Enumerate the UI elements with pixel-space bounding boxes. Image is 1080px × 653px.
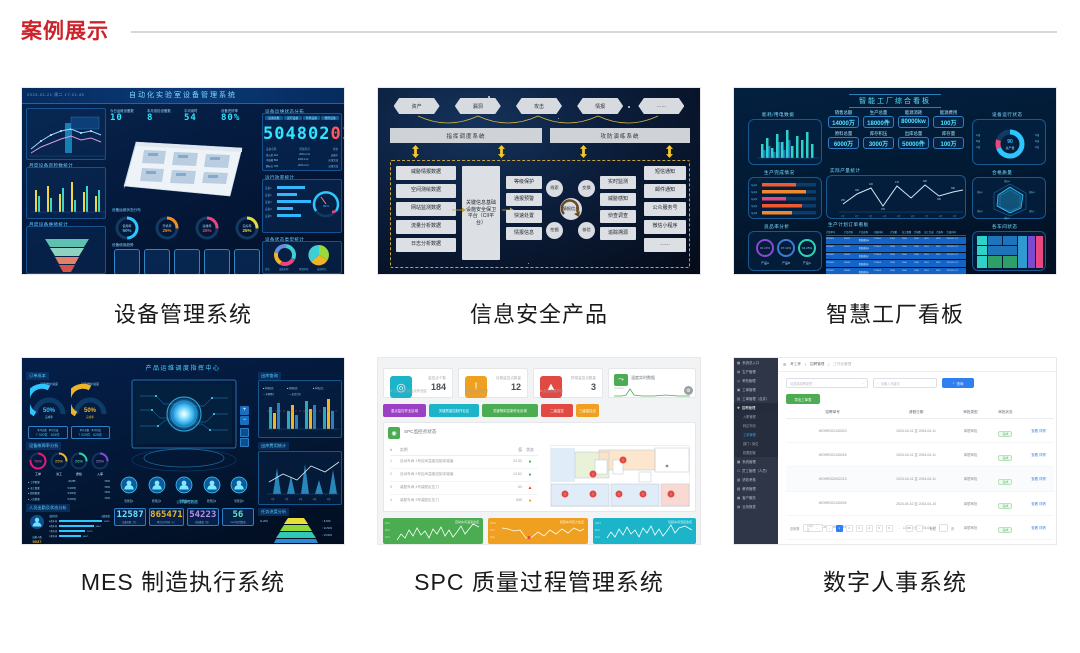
chip-threat-intel[interactable]: 威胁情报数据 xyxy=(396,166,456,180)
svg-text:50%: 50% xyxy=(42,408,55,414)
svg-text:390: 390 xyxy=(951,187,956,190)
export-button[interactable]: 导出工单表 xyxy=(786,394,820,404)
svg-text:指标C: 指标C xyxy=(1029,209,1035,213)
tag-key-monitor-area[interactable]: 重点监控作业区域 xyxy=(383,404,426,417)
zoom-out-button[interactable]: − xyxy=(240,416,249,425)
attendance-icon-wrap: 出勤人数 5037 xyxy=(28,514,46,544)
section-production: 生产完成情况 xyxy=(764,170,795,176)
chip-traffic[interactable]: 流量分析数据 xyxy=(396,220,456,234)
sidebar-item-report[interactable]: ▤业务报表 xyxy=(734,502,778,511)
left-data-sources[interactable]: 威胁情报数据 空间测绘数据 网站监测数据 流量分析数据 日志分析数据 xyxy=(396,166,456,252)
order-table: 计划单号产品代码产品名称 开始时间计划量加工数量 合格数加工完成合格率完成时间 … xyxy=(826,229,966,275)
case-caption: 设备管理系统 xyxy=(21,297,345,329)
svg-text:排名: 排名 xyxy=(265,267,270,271)
panel-countdown: 设备总数 运行设备 停机设备 维修设备 50 48 02 01 设备名称所属科室… xyxy=(262,113,342,171)
incubator-icon[interactable] xyxy=(144,249,170,275)
status-badge: 完成 xyxy=(998,503,1012,509)
breadcrumb[interactable]: ☰ 考工考/ 招聘管理/ 工作台管理 xyxy=(778,358,1056,372)
ring-usage: 使用率 50% xyxy=(114,215,140,241)
chip-cii-platform[interactable]: 关键信息基础设施安全保卫平台（CII平台） xyxy=(462,166,500,260)
svg-text:派工: 派工 xyxy=(56,472,62,476)
big-number-cell: 56 24小时告警数量 xyxy=(222,508,254,526)
chip-alert[interactable]: 通报预警 xyxy=(506,193,542,206)
bar-chart-outbound: ■ 本期出库■ 同期出库■ 本期占比 --- 本期累计--- 出库计划 xyxy=(259,381,343,439)
device-icon-cell[interactable]: 酶标仪 xyxy=(204,249,230,275)
case-item-smart-factory[interactable]: 智能工厂综合看板 能耗/用电数据 xyxy=(733,87,1057,329)
page-last[interactable]: 88 xyxy=(906,525,913,532)
table-header-row: # 实例 值 状态 xyxy=(390,448,538,456)
ring-gauges: 使用率 50% 开机率 25% xyxy=(114,215,260,246)
rotate-arrow-icon xyxy=(558,196,584,222)
svg-text:9月: 9月 xyxy=(953,214,956,218)
thumbnail-smart-factory[interactable]: 智能工厂综合看板 能耗/用电数据 xyxy=(733,87,1057,275)
sidebar-item-workorder[interactable]: ▣工单管理 xyxy=(734,385,778,394)
svg-text:车间4: 车间4 xyxy=(751,204,758,208)
svg-text:380: 380 xyxy=(855,189,860,192)
panel-cost-chart: 1月2月3月 4月5月 xyxy=(258,451,342,505)
kpi-card-monthly[interactable]: ! 月报监控点数量 12 ■ 点击查看异常 xyxy=(458,368,528,398)
device-icon-cell[interactable]: 离心机 xyxy=(174,249,200,275)
circle-mining[interactable]: 挖掘 xyxy=(546,222,563,239)
avatar-cell[interactable]: 管理员3 xyxy=(175,476,193,503)
page-1[interactable]: 1 xyxy=(836,525,843,532)
chip-more[interactable]: …… xyxy=(644,238,686,252)
svg-text:250: 250 xyxy=(841,199,846,202)
sidebar-item-service[interactable]: ▦客户服务 xyxy=(734,493,778,502)
gear-icon[interactable]: ⚙ xyxy=(684,386,693,395)
svg-text:--- 本期累计: --- 本期累计 xyxy=(263,392,275,396)
svg-text:6月: 6月 xyxy=(911,214,914,218)
table-row[interactable]: WOHR202100023 2024-04-11 至 2024-04-11 单据… xyxy=(786,419,1054,443)
thumbnail-mes[interactable]: 产品运维调度指挥中心 订单成本 设备维护进度 50% 完成率 设备维护进度 xyxy=(21,357,345,545)
svg-text:设备名称: 设备名称 xyxy=(279,267,289,271)
search-button[interactable]: ⌕查询 xyxy=(942,378,974,388)
arrow-up-down-icon xyxy=(580,145,587,158)
svg-text:指标E: 指标E xyxy=(977,209,983,213)
panel-pies: 排名设备名称所属科室运维时长 xyxy=(262,241,342,274)
right-notification-chips[interactable]: 短信通知 邮件通知 公众服务号 微信小程序 …… xyxy=(644,166,686,252)
sidebar-item-recruit[interactable]: ❉招聘管理 xyxy=(734,403,778,412)
kpi-strip: 今日运维设备数 10 本月巡检设备数 8 平均用时 54 设备完好率 80% xyxy=(110,108,258,130)
doc-icon: ▣ xyxy=(737,388,740,392)
case-caption: 数字人事系统 xyxy=(733,563,1057,597)
chip-level-protection[interactable]: 等级保护 xyxy=(506,176,542,189)
svg-text:25%: 25% xyxy=(162,228,171,233)
sidebar-item-production[interactable]: ▤生产管理 xyxy=(734,367,778,376)
table-row: CP0002X0002智能模块B T#000220001500 150060%8… xyxy=(826,245,966,252)
case-item-equipment-management[interactable]: 2023-02-21 周二 17:21:45 自动化实验室设备管理系统 xyxy=(21,87,345,329)
case-caption: SPC 质量过程管理系统 xyxy=(377,563,701,597)
case-caption: 信息安全产品 xyxy=(377,297,701,329)
chart-pressure[interactable]: 装配车间压力监控 100.060.020.0 xyxy=(488,518,588,544)
kpi-cell: 生产总量 18000件 xyxy=(863,110,894,128)
thumbnail-hr[interactable]: ▦系统总入口 ▤生产管理 ◷考勤管理 ▣工单管理 ▥工单管理（合并） ❉招聘管理… xyxy=(733,357,1057,545)
kpi-card-footer[interactable]: ■ 点击查看监控点作业区 xyxy=(390,388,427,393)
yield-rings: 96.23% 产品A 97.12% 产品B 94.25% 产品C xyxy=(749,232,823,272)
dashboard-topbar: 2023-02-21 周二 17:21:45 自动化实验室设备管理系统 xyxy=(22,88,344,104)
big-number-cell: 54223 在线数量（台） xyxy=(187,508,219,526)
row-action[interactable]: 查看 详情 xyxy=(1023,452,1054,457)
center-visual xyxy=(116,372,252,482)
sidebar-item-employee[interactable]: ☖员工管理（人员） xyxy=(734,466,778,475)
floorplan-map[interactable]: !!! !!!! xyxy=(550,445,690,507)
svg-text:480: 480 xyxy=(923,180,928,183)
chip-sms[interactable]: 短信通知 xyxy=(644,166,686,180)
docs-icon: ▥ xyxy=(737,397,740,401)
svg-text:97.12%: 97.12% xyxy=(781,246,792,250)
thumbnail-spc[interactable]: ◎ 监控点个数 184 ■ 点击查看监控点作业区 ! 月报监控点数量 12 ■ … xyxy=(377,357,701,545)
svg-text:↑ 21.50%: ↑ 21.50% xyxy=(322,527,333,530)
tag-level2-monitor[interactable]: 二级监控 xyxy=(541,404,573,417)
svg-text:20.0: 20.0 xyxy=(385,529,390,532)
svg-text:B线: B线 xyxy=(976,139,981,143)
gauge-maintenance-1: 设备维护进度 50% 完成率 xyxy=(30,380,68,426)
row-action[interactable]: 查看 详情 xyxy=(1023,476,1054,481)
sidebar-item-workorder-merged[interactable]: ▥工单管理（合并） xyxy=(734,394,778,403)
avatar[interactable] xyxy=(148,476,166,494)
chip-public-account[interactable]: 公众服务号 xyxy=(644,202,686,216)
page-3[interactable]: 3 xyxy=(856,525,863,532)
svg-text:↑ 15.30%: ↑ 15.30% xyxy=(322,534,333,537)
sidebar-item-attendance[interactable]: ◷考勤管理 xyxy=(734,376,778,385)
svg-text:质检: 质检 xyxy=(76,471,82,476)
arrow-right-icon xyxy=(452,206,466,214)
table-row[interactable]: 4 装配车间 3号装配区压力 655 ● xyxy=(390,495,538,507)
section-fault-analysis: 设备故障率分析 xyxy=(26,442,61,450)
table-row: CP0004X0004智能模块D T#000420001500 150060%8… xyxy=(826,260,966,267)
tag-quality-control-area[interactable]: 关键质量控制作业区 xyxy=(429,404,479,417)
page-5[interactable]: 5 xyxy=(876,525,883,532)
panel-yield-rings: 96.23% 产品A 97.12% 产品B 94.25% 产品C xyxy=(748,231,822,271)
sidebar-item-sysmgmt[interactable]: ▩系统管理 xyxy=(734,457,778,466)
arrow-up-down-icon xyxy=(498,145,505,158)
warning-icon: ! xyxy=(465,376,487,398)
chip-investigation[interactable]: 侦查调查 xyxy=(600,210,636,223)
avatar-cell[interactable]: 管理员2 xyxy=(148,476,166,503)
svg-text:设备5: 设备5 xyxy=(265,214,272,218)
table-row[interactable]: WOHR202100125 2024-04-10 至 2024-04-10 单据… xyxy=(786,540,1054,545)
panel-funnel xyxy=(26,226,106,274)
avatar-cell[interactable]: 管理员4 xyxy=(203,476,221,503)
user-icon: ☖ xyxy=(737,469,740,473)
sidebar-item-performance[interactable]: ▧绩效考核 xyxy=(734,475,778,484)
ring-inspection: 26% 质检 xyxy=(69,451,89,479)
table-row[interactable]: 1 自动车间 1号区间温度控制末端值 24.50 ● xyxy=(390,456,538,469)
chip-miniprogram[interactable]: 微信小程序 xyxy=(644,220,686,234)
bar-attack-drill[interactable]: 攻防演练系统 xyxy=(550,128,690,143)
svg-text:产品C: 产品C xyxy=(803,260,812,265)
status-ok-icon: ● xyxy=(522,459,538,465)
svg-text:设备3: 设备3 xyxy=(265,200,272,204)
section-public-data: 公共管理数据 xyxy=(132,500,242,505)
kpi-cell: 能源消耗 80000kw xyxy=(898,110,929,128)
next-page-button[interactable]: → xyxy=(916,525,923,532)
svg-text:指标D: 指标D xyxy=(1004,216,1010,220)
panel-energy-bars xyxy=(748,119,822,165)
page-title: 案例展示 xyxy=(21,15,109,45)
chip-website-monitor[interactable]: 网站监测数据 xyxy=(396,202,456,216)
person-icon xyxy=(29,514,45,530)
recruit-type-select[interactable]: 请选择招聘类型⌄ xyxy=(786,378,868,388)
case-grid: 2023-02-21 周二 17:21:45 自动化实验室设备管理系统 xyxy=(21,87,1057,597)
device-icon-cell[interactable]: 培养箱 xyxy=(144,249,170,275)
kpi-cell: 出库总量 50000件 xyxy=(898,131,929,149)
keyword-input[interactable]: ⌕请输入关键字 xyxy=(873,378,937,388)
svg-text:150: 150 xyxy=(881,208,886,211)
table-row[interactable]: WOHR202100018 2024-04-11 至 2024-04-11 单据… xyxy=(786,443,1054,467)
row-action[interactable]: 查看 详情 xyxy=(1023,525,1054,530)
panel-efficiency: 设备1设备2设备3 设备4设备5 80% xyxy=(262,179,342,233)
big-number-cell: 12587 设备总数（台） xyxy=(114,508,146,526)
device-icon-cell[interactable]: PCR xyxy=(114,249,140,275)
gauge-row: 设备维护进度 50% 完成率 设备维护进度 50% 完成率 xyxy=(28,380,110,426)
menu-icon[interactable]: ☰ xyxy=(783,363,786,367)
circle-exchange[interactable]: 交换 xyxy=(578,180,595,197)
panel-pyramid: 11.20% ↑ 8.10%↑ 21.50%↑ 15.30% xyxy=(258,516,342,544)
svg-text:入库: 入库 xyxy=(97,471,103,476)
svg-text:设备4: 设备4 xyxy=(265,207,272,211)
kpi-card-abnormal[interactable]: ▲ 异常监控点数量 3 ■ 点击查看异常 xyxy=(533,368,603,398)
svg-text:5月: 5月 xyxy=(897,214,900,218)
grid-icon: ▦ xyxy=(737,361,740,365)
svg-text:25%: 25% xyxy=(55,459,63,464)
svg-text:C线: C线 xyxy=(976,145,981,149)
svg-text:车间1: 车间1 xyxy=(751,183,758,187)
attendance-bars: 出勤类型出勤数量 A类车间364人 B类车间166人 C类车间122人 D类车间… xyxy=(49,514,110,544)
chip-intel-info[interactable]: 情报信息 xyxy=(506,227,542,240)
table-row[interactable]: 2 自动车间 2号区间温度控制末端值 13.52 ● xyxy=(390,469,538,482)
sidebar-sub-onboarding[interactable]: 入职管理 xyxy=(734,412,778,421)
ring-gauge: 运维率 25% xyxy=(194,215,220,246)
sparkline-temperature xyxy=(614,387,692,398)
tag-button-row[interactable]: 重点监控作业区域 关键质量控制作业区 关键物料控制作业区域 二级监控 三级监控点 xyxy=(383,404,599,417)
status-list: 设备名称所属科室状态 离心机 A012023-4-11运维中 干燥箱 B0220… xyxy=(263,147,341,168)
svg-text:总产量: 总产量 xyxy=(1005,145,1014,150)
layer-button[interactable] xyxy=(240,428,249,437)
svg-text:50.0: 50.0 xyxy=(595,529,600,532)
kpi-item: 平均用时 54 xyxy=(184,108,221,130)
alert-triangle-icon: ▲ xyxy=(540,376,562,398)
map-controls[interactable]: + − xyxy=(240,406,250,447)
svg-text:4月: 4月 xyxy=(313,497,316,501)
page-2[interactable]: 2 xyxy=(846,525,853,532)
isometric-floorplan xyxy=(114,130,260,208)
spike-chart: 1月2月3月 4月5月 xyxy=(259,452,343,506)
arrow-up-down-icon xyxy=(666,145,673,158)
kpi-cell: 库存量 100万 xyxy=(933,131,964,149)
attendance-block: 出勤人数 5037 出勤类型出勤数量 A类车间364人 B类车间166人 C类车… xyxy=(28,514,110,544)
svg-text:D线: D线 xyxy=(1035,133,1040,137)
status-badge: 完成 xyxy=(998,527,1012,533)
kpi-card-temperature[interactable]: ⤳ 温度实时数据 Celsius ⚙ xyxy=(608,368,696,398)
right-mid-chips[interactable]: 实时监测 威胁感知 侦查调查 追踪溯源 xyxy=(600,176,636,240)
tag-level3-monitor[interactable]: 三级监控点 xyxy=(576,404,599,417)
svg-text:车间3: 车间3 xyxy=(751,197,758,201)
ring-health: 完好率 25% xyxy=(234,215,260,241)
case-item-hr[interactable]: ▦系统总入口 ▤生产管理 ◷考勤管理 ▣工单管理 ▥工单管理（合并） ❉招聘管理… xyxy=(733,357,1057,597)
pcr-icon[interactable] xyxy=(114,249,140,275)
fridge-icon[interactable] xyxy=(234,249,260,275)
svg-text:F线: F线 xyxy=(1035,145,1039,149)
svg-text:420: 420 xyxy=(869,183,874,186)
svg-text:3月: 3月 xyxy=(299,497,302,501)
avatar[interactable] xyxy=(230,476,248,494)
kpi-card-monitor-points[interactable]: ◎ 监控点个数 184 ■ 点击查看监控点作业区 xyxy=(383,368,453,398)
target-icon: ◎ xyxy=(390,376,412,398)
sidebar-item-salary[interactable]: ▨薪资管理 xyxy=(734,484,778,493)
status-icon: ◉ xyxy=(388,427,400,439)
panel-workshop-map xyxy=(972,231,1046,271)
case-item-spc[interactable]: ◎ 监控点个数 184 ■ 点击查看监控点作业区 ! 月报监控点数量 12 ■ … xyxy=(377,357,701,597)
spc-status-panel: ◉ SPC监控点状态 # 实例 值 状态 1 自动车间 1号区间温度控制末端值 xyxy=(383,422,696,512)
svg-text:10.0: 10.0 xyxy=(385,536,390,539)
dashboard-title: 智能工厂综合看板 xyxy=(849,94,941,108)
svg-text:设备2: 设备2 xyxy=(265,193,272,197)
line-chart-output: 250380420 150470480 360390 1月2月3月 4月5月6月… xyxy=(827,176,967,220)
ellipsis: … xyxy=(896,525,903,532)
svg-text:8月: 8月 xyxy=(939,214,942,218)
table-row[interactable]: 3 装配车间 4号装配区压力 60 ▲ xyxy=(390,482,538,495)
svg-text:■ 本期占比: ■ 本期占比 xyxy=(313,386,324,390)
page-6[interactable]: 6 xyxy=(886,525,893,532)
svg-text:--- 出库计划: --- 出库计划 xyxy=(289,392,301,396)
list-button[interactable] xyxy=(240,438,249,447)
thumbnail-information-security[interactable]: 资产 漏洞 攻击 情报 …… 指挥调度系统 攻防演练系统 xyxy=(377,87,701,275)
device-icon-row[interactable]: PCR 培养箱 离心机 酶标仪 xyxy=(114,249,260,275)
chart-temperature[interactable]: 自动车间温度监控 30.020.010.0 xyxy=(383,518,483,544)
chip-realtime-monitor[interactable]: 实时监测 xyxy=(600,176,636,189)
chip-traceback[interactable]: 追踪溯源 xyxy=(600,227,636,240)
svg-text:运维时长: 运维时长 xyxy=(317,267,327,271)
panel-line-chart: 250380420 150470480 360390 1月2月3月 4月5月6月… xyxy=(826,175,966,219)
chevron-down-icon: ⌄ xyxy=(816,526,819,530)
bar-chart-inspection xyxy=(27,168,107,220)
mini-stats: 本月总数 本月完成 7 020件 625件 本月总数 本月完成 7 020件 6… xyxy=(28,426,110,439)
table-row[interactable]: WOHR202100025 2024-04-10 至 2024-04-10 单据… xyxy=(786,492,1054,516)
kpi-card-footer[interactable]: ■ 点击查看异常 xyxy=(540,388,563,393)
svg-text:30.0: 30.0 xyxy=(385,522,390,525)
sidebar-item-system[interactable]: ▦系统总入口 xyxy=(734,358,778,367)
svg-text:80%: 80% xyxy=(323,204,329,208)
chip-threat-perception[interactable]: 威胁感知 xyxy=(600,193,636,206)
avatar[interactable] xyxy=(203,476,221,494)
progress-bars: 车间1车间2车间3 车间4车间5 xyxy=(749,178,823,220)
circle-verify[interactable]: 核验 xyxy=(578,222,595,239)
sidebar-sub-regularization[interactable]: 转正申请 xyxy=(734,421,778,430)
svg-text:50%: 50% xyxy=(83,408,96,414)
svg-text:360: 360 xyxy=(937,198,942,201)
pyramid-chart: 11.20% ↑ 8.10%↑ 21.50%↑ 15.30% xyxy=(258,516,342,544)
sidebar[interactable]: ▦系统总入口 ▤生产管理 ◷考勤管理 ▣工单管理 ▥工单管理（合并） ❉招聘管理… xyxy=(734,358,778,544)
svg-text:25%: 25% xyxy=(96,459,104,464)
report-icon: ▤ xyxy=(737,505,740,509)
device-icon-cell[interactable]: 冰箱 xyxy=(234,249,260,275)
avatar-cell[interactable]: 管理员1 xyxy=(120,476,138,503)
chart-humidity[interactable]: 包装车间湿度监控 100.050.010.0 xyxy=(593,518,696,544)
svg-text:!: ! xyxy=(565,492,566,496)
avatar-row[interactable]: 管理员1 管理员2 管理员3 管理员4 xyxy=(120,476,248,503)
svg-text:!: ! xyxy=(619,492,620,496)
chip-log[interactable]: 日志分析数据 xyxy=(396,238,456,252)
mid-function-chips[interactable]: 等级保护 通报预警 快速处置 情报信息 xyxy=(506,176,542,240)
page-size-select[interactable]: 10条/页⌄ xyxy=(803,524,823,532)
case-item-mes[interactable]: 产品运维调度指挥中心 订单成本 设备维护进度 50% 完成率 设备维护进度 xyxy=(21,357,345,597)
thumbnail-equipment-management[interactable]: 2023-02-21 周二 17:21:45 自动化实验室设备管理系统 xyxy=(21,87,345,275)
centrifuge-icon[interactable] xyxy=(174,249,200,275)
status-ok-icon: ● xyxy=(522,472,538,478)
sidebar-sub-workorder[interactable]: 工单管理 xyxy=(734,430,778,439)
sidebar-sub-permission[interactable]: 权限配置 xyxy=(734,448,778,457)
pie-charts: 排名设备名称所属科室运维时长 xyxy=(263,242,343,275)
table-row[interactable]: WOHR202002213 2024-04-11 至 2024-04-11 单据… xyxy=(786,467,1054,491)
ring-row: 76% 工单 25% 派工 26% 质检 xyxy=(28,451,110,479)
bar-command-dispatch[interactable]: 指挥调度系统 xyxy=(390,128,542,143)
row-action[interactable]: 查看 详情 xyxy=(1023,428,1054,433)
status-warn-icon: ● xyxy=(522,498,538,504)
chart-icon: ▧ xyxy=(737,478,740,482)
chip-email[interactable]: 邮件通知 xyxy=(644,184,686,198)
panel-progress-bars: 车间1车间2车间3 车间4车间5 xyxy=(748,177,822,219)
prev-page-button[interactable]: ‹ xyxy=(826,525,833,532)
svg-text:↑ 8.10%: ↑ 8.10% xyxy=(322,520,332,523)
status-badge: 完成 xyxy=(998,455,1012,461)
chevron-down-icon: ⌄ xyxy=(861,381,864,385)
section-energy: 能耗/用电数据 xyxy=(762,112,794,118)
kpi-cell: 库存积压 3000万 xyxy=(863,131,894,149)
chip-spatial[interactable]: 空间测绘数据 xyxy=(396,184,456,198)
donut-chart: 90 总产量 A线B线C线 D线E线F线 xyxy=(973,120,1047,166)
sidebar-sub-dept[interactable]: 部门 / 岗位 xyxy=(734,439,778,448)
svg-text:所属科室: 所属科室 xyxy=(299,267,309,271)
search-bar[interactable]: 请选择招聘类型⌄ ⌕请输入关键字 ⌕查询 xyxy=(786,378,974,388)
mini-stat: 本月总数 本月完成 7 020件 625件 xyxy=(71,426,111,439)
gear-icon: ▩ xyxy=(737,460,740,464)
row-action[interactable]: 查看 详情 xyxy=(1023,501,1054,506)
avatar-cell[interactable]: 管理员5 xyxy=(230,476,248,503)
zoom-in-button[interactable]: + xyxy=(240,406,249,415)
svg-text:25%: 25% xyxy=(242,228,251,233)
panel-donut: 90 总产量 A线B线C线 D线E线F线 xyxy=(972,119,1046,165)
svg-text:2月: 2月 xyxy=(855,214,858,218)
trend-icon: ⤳ xyxy=(614,374,628,386)
clock-icon: ◷ xyxy=(737,379,740,383)
case-item-information-security[interactable]: 资产 漏洞 攻击 情报 …… 指挥调度系统 攻防演练系统 xyxy=(377,87,701,329)
page-4[interactable]: 4 xyxy=(866,525,873,532)
ring-gauge: 完好率 25% xyxy=(234,215,260,246)
panel-radar: 指标A指标B指标C 指标D指标E指标F xyxy=(972,177,1046,219)
arrow-up-down-icon xyxy=(412,145,419,158)
panel-inspection-bars xyxy=(26,167,106,219)
pagination[interactable]: 总条数 10条/页⌄ ‹ 1 2 3 4 5 6 … 88 → 前往 xyxy=(790,524,954,532)
svg-text:1月: 1月 xyxy=(271,497,274,501)
ring-maintain: 运维率 25% xyxy=(194,215,220,241)
svg-text:76%: 76% xyxy=(34,459,42,464)
dashboard-title: 产品运维调度指挥中心 xyxy=(145,363,220,372)
avatar[interactable] xyxy=(120,476,138,494)
countdown-tabs[interactable]: 设备总数 运行设备 停机设备 维修设备 xyxy=(263,114,341,122)
svg-text:指标F: 指标F xyxy=(977,190,983,194)
circle-clue[interactable]: 线索 xyxy=(546,180,563,197)
goto-page-input[interactable] xyxy=(939,524,948,532)
dashboard-title: 自动化实验室设备管理系统 xyxy=(129,90,237,100)
svg-text:96.23%: 96.23% xyxy=(760,246,771,250)
svg-text:■ 同期出库: ■ 同期出库 xyxy=(287,386,298,390)
chip-rapid-response[interactable]: 快速处置 xyxy=(506,210,542,223)
reader-icon[interactable] xyxy=(204,249,230,275)
avatar[interactable] xyxy=(175,476,193,494)
tag-material-control-area[interactable]: 关键物料控制作业区域 xyxy=(482,404,538,417)
kpi-card-footer[interactable]: ■ 点击查看异常 xyxy=(465,388,488,393)
